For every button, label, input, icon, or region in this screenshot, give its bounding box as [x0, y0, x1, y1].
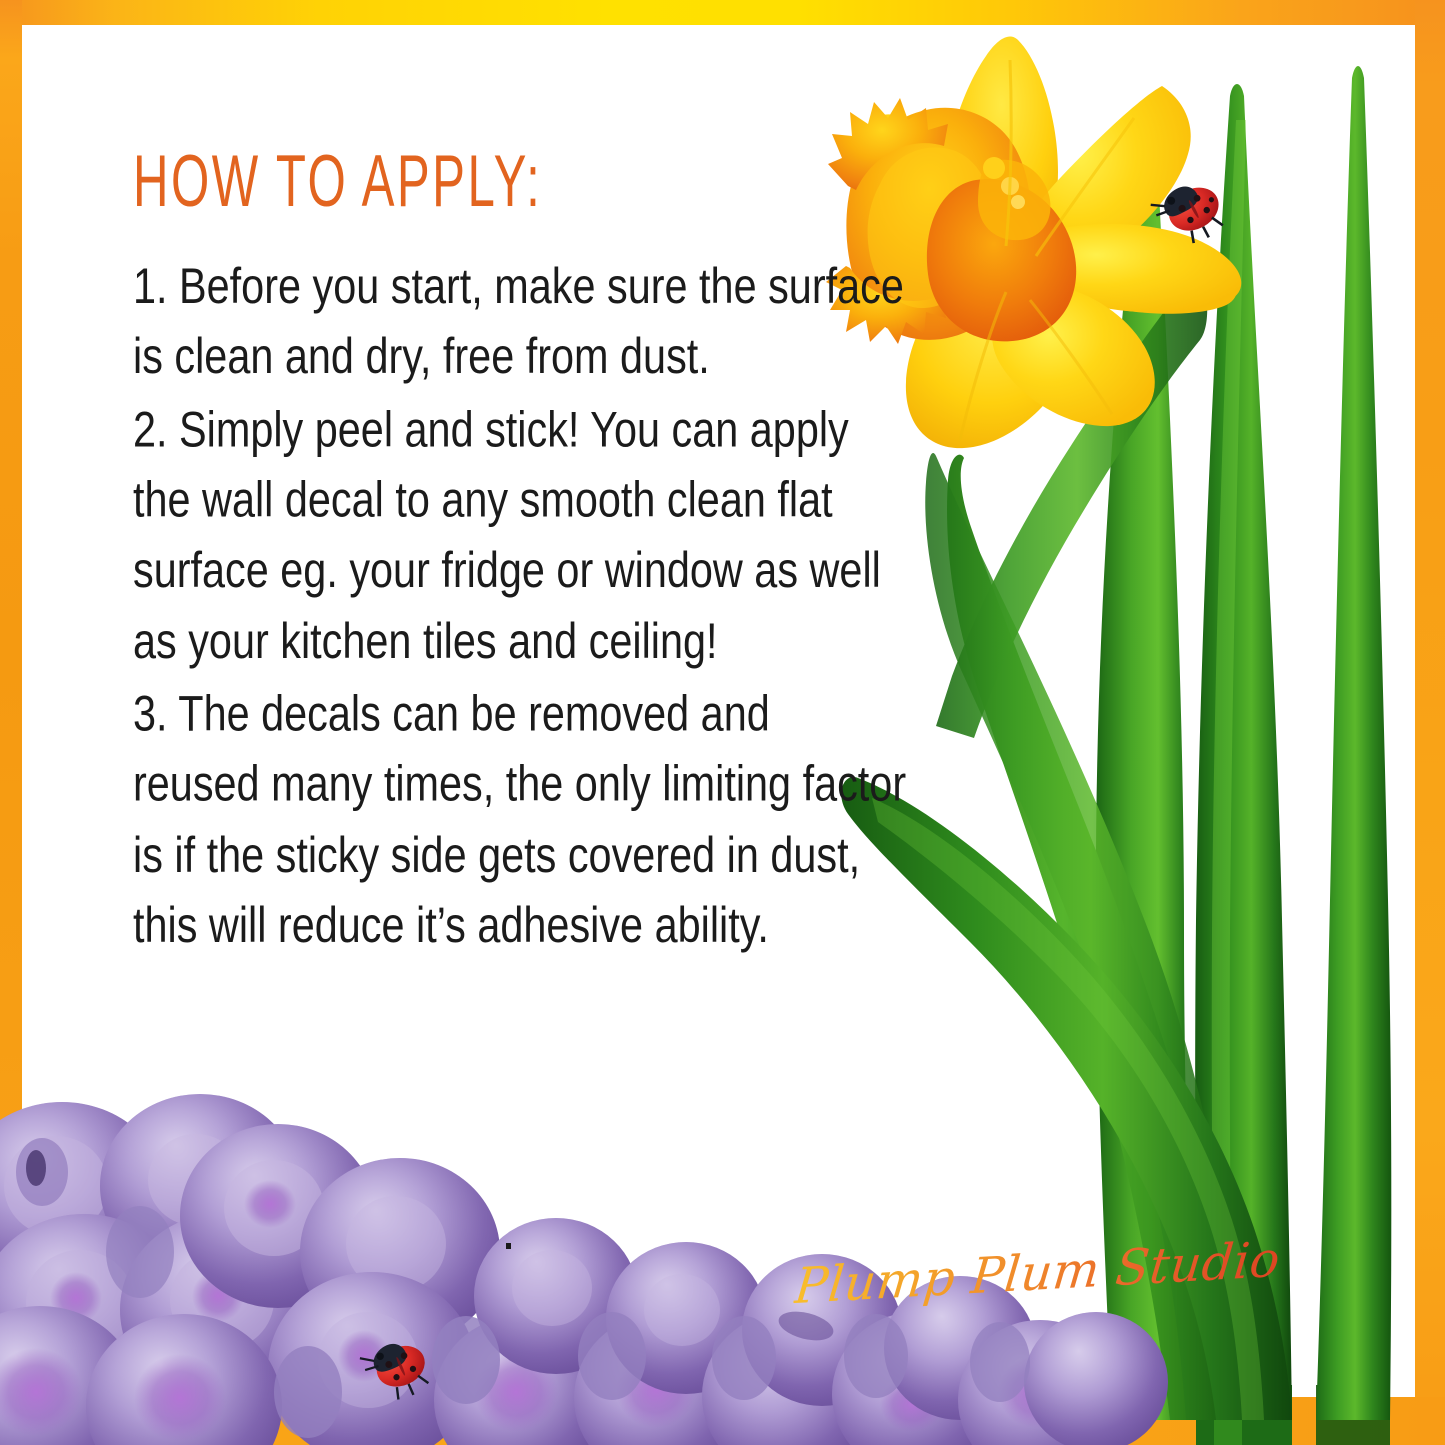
border-bottom: [0, 1397, 1445, 1445]
list-item: 2. Simply peel and stick! You can apply …: [133, 394, 907, 676]
list-item: 3. The decals can be removed and reused …: [133, 679, 907, 961]
list-item: 1. Before you start, make sure the surfa…: [133, 251, 907, 392]
instructions-block: HOW TO APPLY: 1. Before you start, make …: [133, 145, 903, 908]
page-title: HOW TO APPLY:: [133, 145, 764, 218]
steps-list: 1. Before you start, make sure the surfa…: [133, 251, 907, 961]
border-top: [0, 0, 1445, 25]
border-left: [0, 0, 22, 1445]
stray-mark: [506, 1243, 511, 1249]
instruction-card: HOW TO APPLY: 1. Before you start, make …: [0, 0, 1445, 1445]
border-right: [1415, 0, 1445, 1445]
